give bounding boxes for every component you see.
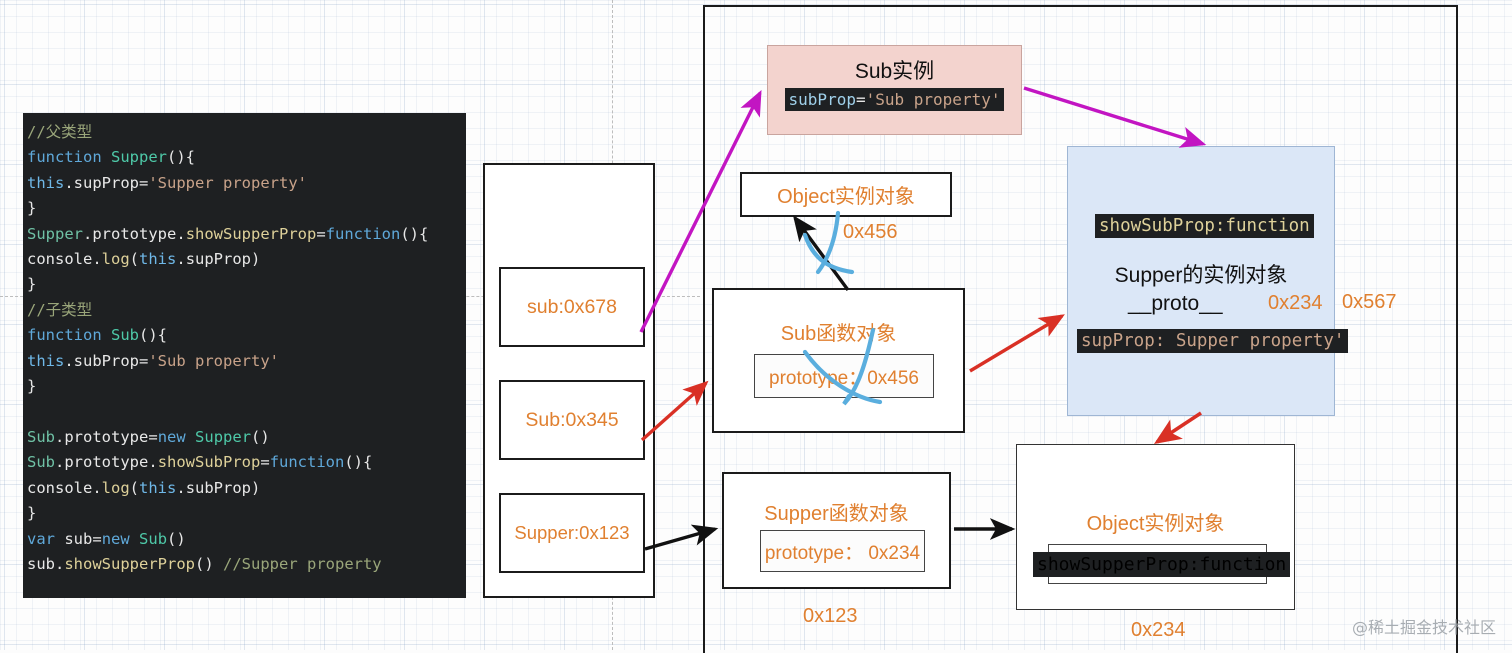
- supper-prototype-showsubprop-chip: showSubProp:function: [1095, 214, 1314, 238]
- supper-prototype-proto-label: __proto__: [1128, 292, 1223, 316]
- sub-instance-title: Sub实例: [768, 55, 1021, 85]
- code-block: //父类型 function Supper(){ this.supProp='S…: [27, 120, 466, 577]
- supper-function-object-box[interactable]: Supper函数对象 prototype： 0x234: [722, 472, 951, 589]
- memory-slot-sub[interactable]: sub:0x678: [499, 267, 645, 347]
- supper-prototype-title: Supper的实例对象: [1068, 259, 1334, 289]
- sub-instance-box[interactable]: Sub实例 subProp='Sub property': [767, 45, 1022, 135]
- code-line-comment-child: //子类型: [27, 301, 92, 319]
- memory-slot-Supper[interactable]: Supper:0x123: [499, 493, 645, 573]
- sub-function-object-title: Sub函数对象: [714, 317, 963, 346]
- address-label-0x456: 0x456: [843, 221, 898, 244]
- object-instance-top-box[interactable]: Object实例对象: [740, 172, 952, 217]
- object-instance-bottom-title: Object实例对象: [1017, 507, 1294, 536]
- watermark: @稀土掘金技术社区: [1352, 614, 1496, 638]
- address-label-0x567: 0x567: [1342, 291, 1397, 314]
- supper-prototype-box[interactable]: showSubProp:function Supper的实例对象 __proto…: [1067, 146, 1335, 416]
- code-panel: //父类型 function Supper(){ this.supProp='S…: [23, 113, 466, 598]
- code-line-comment-parent: //父类型: [27, 123, 92, 141]
- memory-slot-Sub[interactable]: Sub:0x345: [499, 380, 645, 460]
- sub-prototype-field[interactable]: prototype：0x456: [754, 354, 934, 398]
- address-label-0x234-bottom: 0x234: [1131, 619, 1186, 642]
- memory-stack-column: sub:0x678 Sub:0x345 Supper:0x123: [483, 163, 655, 598]
- object-instance-bottom-box[interactable]: Object实例对象 showSupperProp:function: [1016, 444, 1295, 610]
- sub-instance-code-chip: subProp='Sub property': [785, 88, 1005, 111]
- sub-function-object-box[interactable]: Sub函数对象 prototype：0x456: [712, 288, 965, 433]
- supper-prototype-field[interactable]: prototype： 0x234: [760, 530, 925, 572]
- supper-prototype-proto-address: 0x234: [1268, 292, 1323, 315]
- object-instance-top-title: Object实例对象: [742, 174, 950, 215]
- address-label-0x123: 0x123: [803, 605, 858, 628]
- supper-prototype-supprop-chip: supProp: Supper property': [1077, 329, 1348, 353]
- supper-function-object-title: Supper函数对象: [724, 497, 949, 526]
- object-instance-bottom-code-chip: showSupperProp:function: [1033, 552, 1290, 577]
